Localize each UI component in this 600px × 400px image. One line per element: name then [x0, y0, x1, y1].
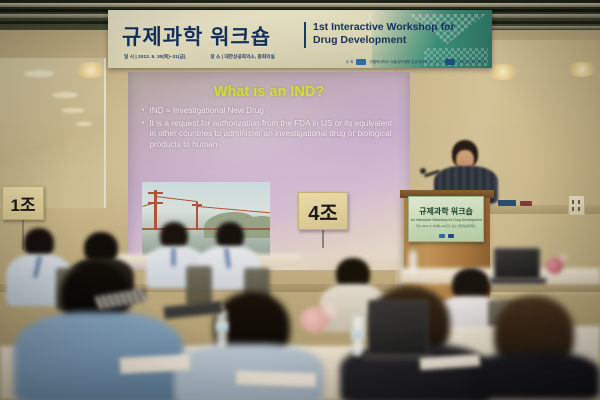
- banner-title-english: 1st Interactive Workshop for Drug Develo…: [313, 21, 488, 47]
- slide-bullet-text: IND = Investigational New Drug: [149, 106, 392, 117]
- wall-marker: [520, 201, 532, 206]
- glass-reflection: [62, 108, 84, 113]
- table-sign-label: 4조: [308, 197, 338, 226]
- banner-divider: [304, 22, 306, 48]
- ceiling-light: [74, 62, 108, 78]
- bottle-label: [352, 330, 364, 339]
- banner-title-en-line1: 1st Interactive Workshop for: [313, 21, 488, 34]
- ceiling-rail: [0, 3, 600, 7]
- glass-reflection: [76, 122, 92, 126]
- water-bottle: [408, 252, 418, 274]
- slide-bullet-list: • IND = Investigational New Drug • It is…: [142, 106, 392, 152]
- wall-marker-tray: [498, 200, 516, 206]
- microphone-icon: [420, 168, 426, 174]
- flower-arrangement: [556, 252, 570, 264]
- podium-sign-subtitle: 일시 2013. 5. 30(목)~31(금) | 장소 대한상공회의소: [409, 224, 483, 228]
- conference-room-photo: 규제과학 워크숍 1st Interactive Workshop for Dr…: [0, 0, 600, 400]
- slide-bullet-item: • IND = Investigational New Drug: [142, 106, 392, 117]
- podium-sign-title-en: 1st Interactive Workshop for Drug Develo…: [409, 218, 483, 222]
- slide-bullet-item: • It is a request for authorization from…: [142, 119, 392, 151]
- host-logo-icon: [356, 59, 366, 65]
- bottle-cap: [354, 312, 360, 315]
- laptop-base: [490, 278, 546, 284]
- bottle-label: [216, 322, 228, 331]
- banner-sponsor-logos: 주 최 가톨릭대학교 서울성모병원 임상약리학과 주 관 한국임상약리학회: [346, 59, 484, 65]
- lanyard: [172, 248, 175, 266]
- ceiling-light: [566, 62, 598, 77]
- glass-reflection: [24, 70, 54, 77]
- banner-venue: 장 소 | 대한상공회의소, 중회의실: [210, 54, 275, 59]
- banner-date: 일 시 | 2013. 5. 30(목)~31(금): [124, 54, 186, 59]
- podium-host-logo-icon: [439, 234, 445, 238]
- bottle-cap: [410, 249, 416, 252]
- banner-title-korean: 규제과학 워크숍: [122, 21, 271, 51]
- laptop-screen: [494, 248, 540, 280]
- banner-organizer-label: 주 관: [434, 60, 442, 65]
- flower-arrangement: [318, 300, 340, 320]
- banner-organizer-name: 한국임상약리학회: [458, 60, 484, 65]
- bullet-marker-icon: •: [142, 106, 144, 117]
- banner-host-label: 주 최: [346, 60, 354, 65]
- glass-reflection: [52, 92, 78, 98]
- laptop-screen: [368, 300, 428, 358]
- bullet-marker-icon: •: [142, 119, 144, 151]
- table-sign-label: 1조: [10, 191, 35, 216]
- podium-sign: 규제과학 워크숍 1st Interactive Workshop for Dr…: [408, 196, 484, 242]
- table-sign-1: 1조: [2, 186, 44, 220]
- podium-sign-title-ko: 규제과학 워크숍: [409, 206, 483, 217]
- banner-host-name: 가톨릭대학교 서울성모병원 임상약리학과: [369, 60, 431, 65]
- slide-title: What is an IND?: [128, 84, 410, 100]
- banner-title-en-line2: Drug Development: [313, 34, 488, 47]
- event-banner: 규제과학 워크숍 1st Interactive Workshop for Dr…: [108, 10, 492, 68]
- chair: [186, 266, 212, 306]
- podium-sign-logos: [409, 234, 483, 238]
- organizer-logo-icon: [445, 59, 455, 65]
- slide-bullet-text: It is a request for authorization from t…: [149, 119, 392, 151]
- podium-organizer-logo-icon: [448, 234, 454, 238]
- power-outlet: [568, 195, 585, 216]
- foreground-person-torso: [470, 352, 600, 400]
- photo-bridge-crossbeam: [148, 192, 163, 194]
- documents: [236, 371, 316, 388]
- table-sign-4: 4조: [298, 192, 348, 230]
